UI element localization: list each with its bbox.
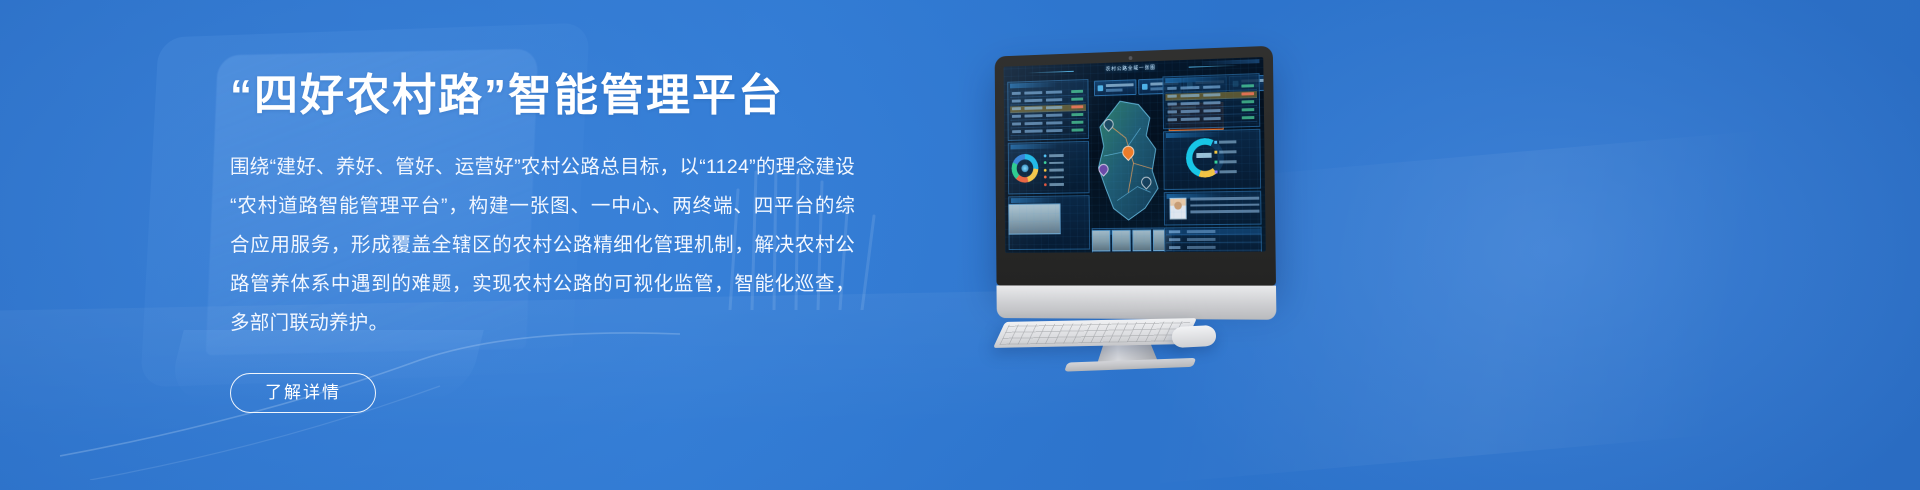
dashboard-panel-maintenance-list: [1162, 73, 1260, 129]
photo-thumbnail-strip: [1092, 229, 1172, 249]
monitor-chin: [997, 285, 1277, 319]
event-table: [1166, 229, 1262, 253]
mouse: [1171, 325, 1216, 348]
duty-officer-details: [1190, 197, 1259, 217]
keyboard-keys: [999, 321, 1190, 345]
panel-header-bar: [1165, 76, 1222, 83]
kpi-chip: [1094, 79, 1137, 96]
desktop-monitor-illustration: 农村公路全域一张图: [972, 45, 1308, 351]
banner-copy: “四好农村路”智能管理平台 围绕“建好、养好、管好、运营好”农村公路总目标，以“…: [230, 70, 870, 413]
table-header-row: [1166, 229, 1262, 236]
table-row: [1166, 237, 1262, 244]
panel-header-bar: [1011, 198, 1059, 203]
photo-thumbnail: [1132, 230, 1151, 252]
dashboard-ui: 农村公路全域一张图: [1004, 57, 1266, 253]
table-row: [1166, 245, 1262, 251]
monitor-screen: 农村公路全域一张图: [1004, 57, 1266, 253]
banner-description: 围绕“建好、养好、管好、运营好”农村公路总目标，以“1124”的理念建设“农村道…: [230, 148, 855, 343]
camera-feed-thumbnail: [1008, 203, 1060, 234]
gauge-value-label: [1196, 153, 1211, 158]
webcam-icon: [1129, 56, 1133, 60]
panel-header-bar: [1010, 144, 1057, 150]
keyboard: [993, 318, 1197, 348]
monitor-bezel: 农村公路全域一张图: [995, 46, 1276, 286]
panel-header-bar: [1010, 82, 1057, 88]
gauge-stat-legend: [1214, 139, 1261, 180]
dashboard-panel-road-stats: [1007, 79, 1089, 141]
photo-thumbnail: [1092, 230, 1111, 252]
page-title: “四好农村路”智能管理平台: [230, 70, 870, 122]
hero-banner: “四好农村路”智能管理平台 围绕“建好、养好、管好、运营好”农村公路总目标，以“…: [0, 0, 1920, 490]
avatar: [1169, 198, 1186, 220]
photo-thumbnail: [1112, 230, 1131, 252]
region-map: [1092, 98, 1169, 224]
panel-header-bar: [1166, 132, 1223, 138]
donut-chart-legend: [1044, 153, 1050, 189]
learn-more-button[interactable]: 了解详情: [230, 373, 376, 413]
